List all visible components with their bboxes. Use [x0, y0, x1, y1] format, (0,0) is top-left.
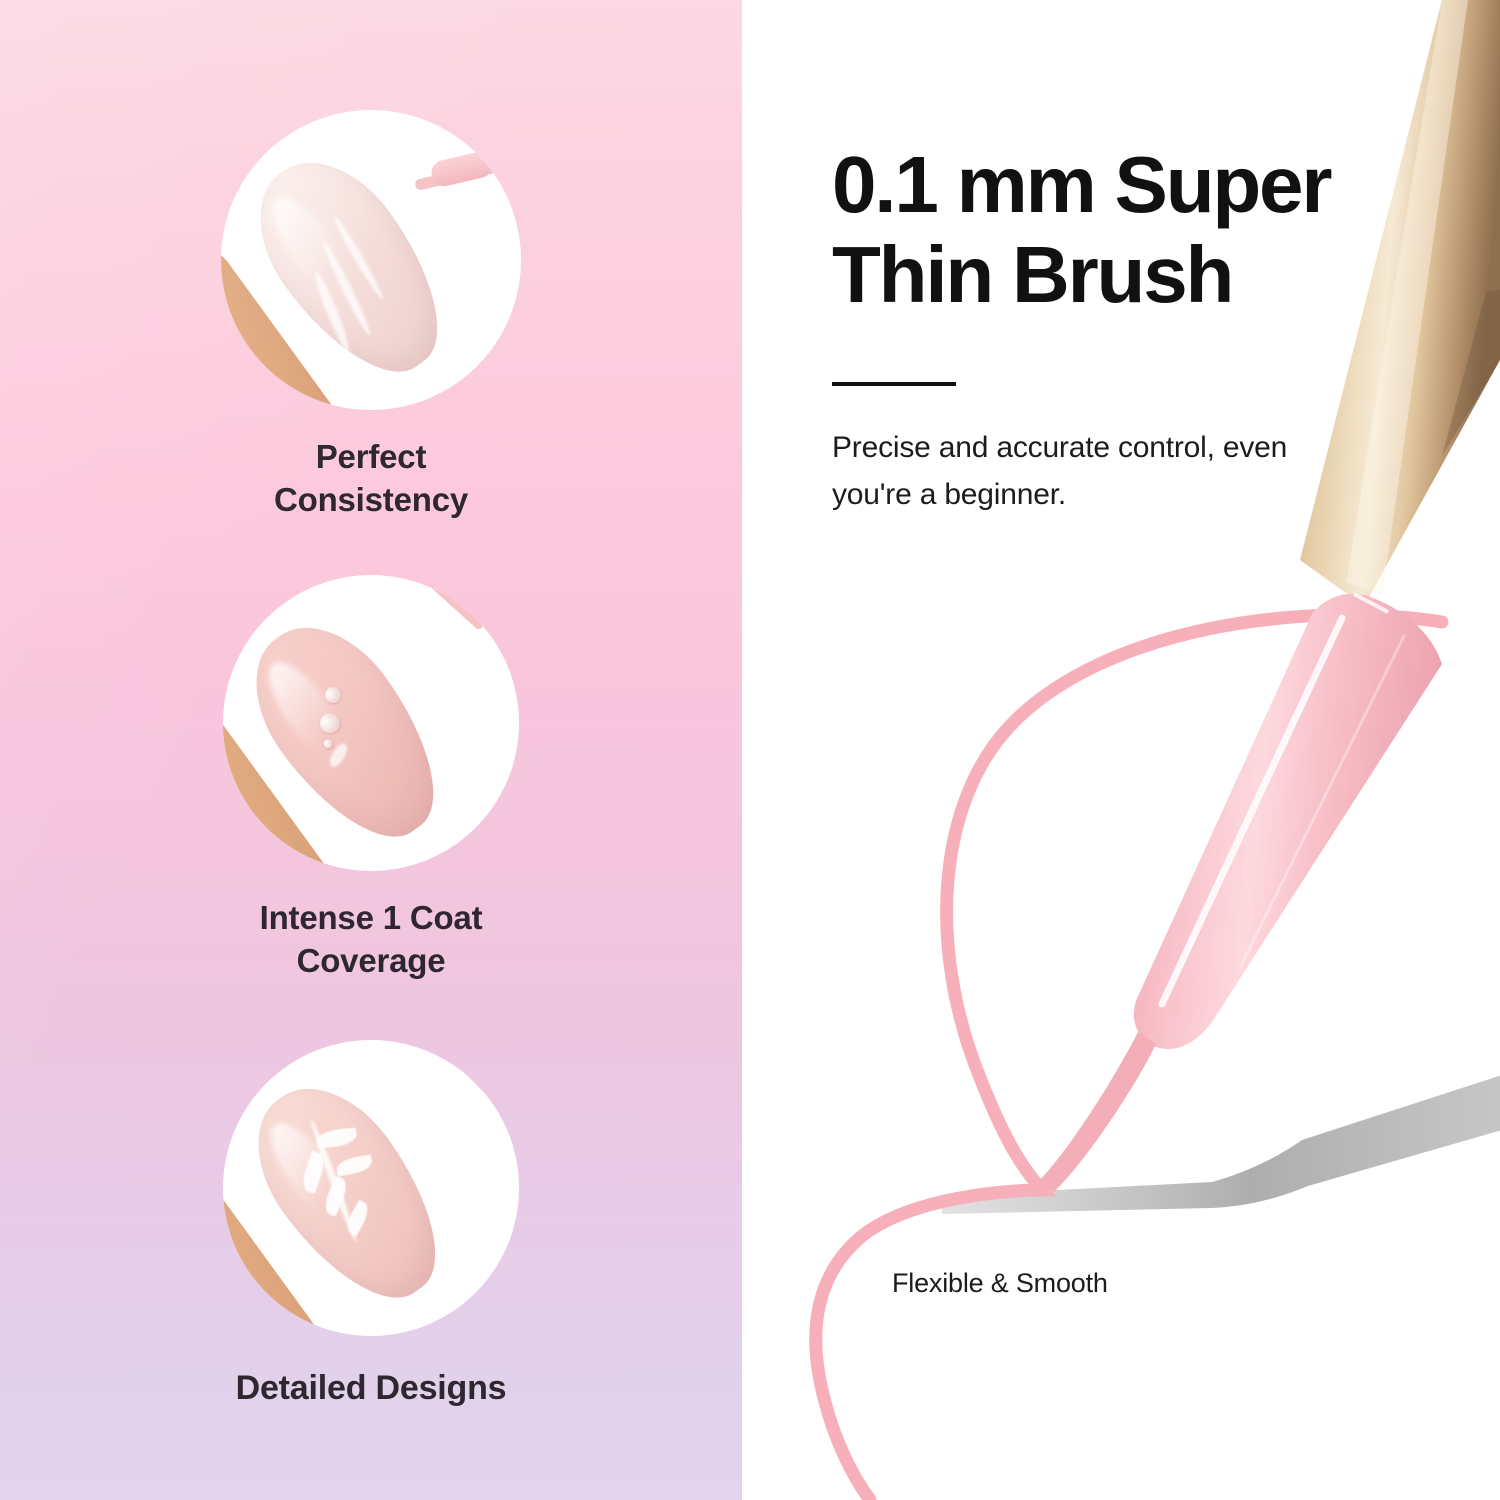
brush-bristle: [412, 1040, 489, 1093]
brush-handle: [1038, 594, 1442, 1192]
headline-line-1: 0.1 mm Super: [832, 140, 1472, 230]
feature-block-2: Intense 1 Coat Coverage: [0, 575, 742, 983]
brush-ferrule: [429, 149, 495, 188]
nail-gloss-highlight: [256, 651, 363, 776]
product-feature-graphic: Perfect Consistency: [0, 0, 1500, 1500]
feature-label-2-line1: Intense 1 Coat: [0, 897, 742, 940]
right-detail-panel: 0.1 mm Super Thin Brush Precise and accu…: [742, 0, 1500, 1500]
feature-label-3-line1: Detailed Designs: [0, 1366, 742, 1410]
page-title: 0.1 mm Super Thin Brush: [832, 140, 1472, 319]
brush-bristle: [402, 575, 485, 631]
nail-scene-1: [221, 110, 521, 410]
feature-image-3: [223, 1040, 519, 1336]
feature-label-2: Intense 1 Coat Coverage: [0, 897, 742, 983]
feature-block-1: Perfect Consistency: [0, 110, 742, 522]
headline-line-2: Thin Brush: [832, 230, 1472, 320]
nail-scene-2: [223, 575, 519, 871]
leaf-petal: [335, 1154, 373, 1176]
left-feature-panel: Perfect Consistency: [0, 0, 742, 1500]
feature-label-1: Perfect Consistency: [0, 436, 742, 522]
feature-image-1: [221, 110, 521, 410]
feature-block-3: Detailed Designs: [0, 1040, 742, 1410]
subtitle-text: Precise and accurate control, even you'r…: [832, 425, 1372, 518]
flexible-smooth-caption: Flexible & Smooth: [892, 1268, 1108, 1299]
leaf-petal: [315, 1127, 357, 1148]
feature-label-1-line2: Consistency: [0, 479, 742, 522]
feature-label-1-line1: Perfect: [0, 436, 742, 479]
nail-scene-3: [223, 1040, 519, 1336]
feature-image-2: [223, 575, 519, 871]
title-divider-rule: [832, 382, 956, 386]
feature-label-3: Detailed Designs: [0, 1366, 742, 1410]
feature-label-2-line2: Coverage: [0, 940, 742, 983]
